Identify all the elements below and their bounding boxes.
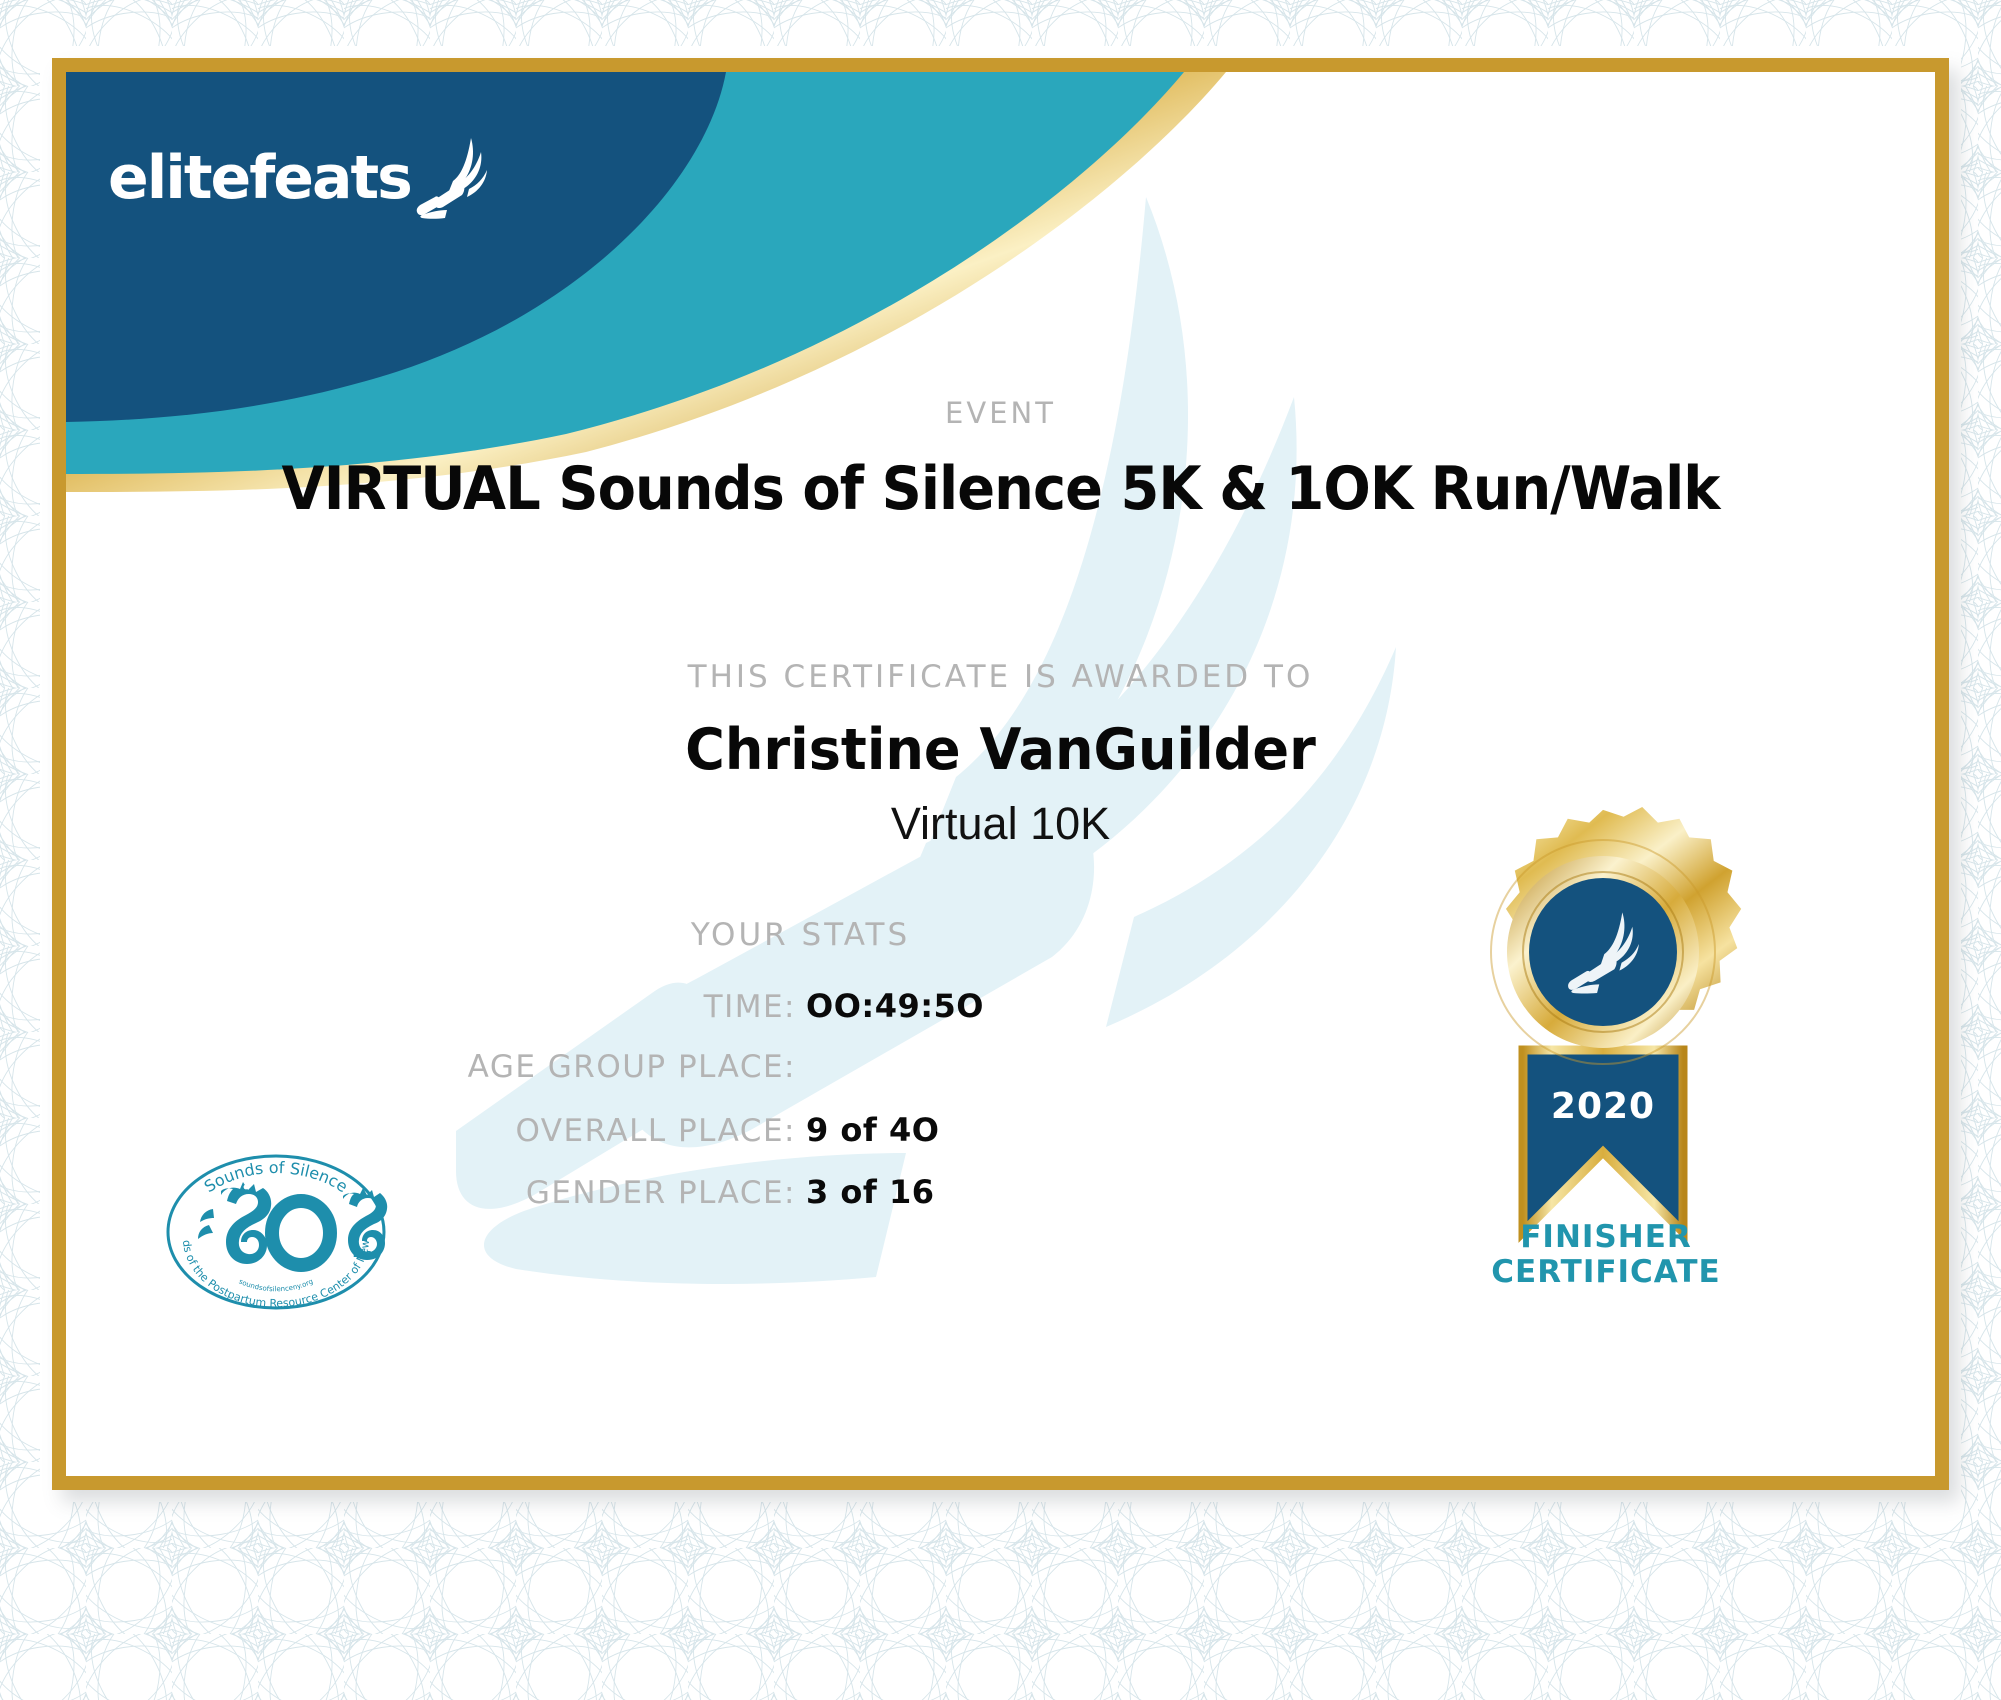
stat-value-time: OO:49:5O xyxy=(806,987,984,1025)
sounds-of-silence-logo: LMR Sounds of Silence Friends of the Pos… xyxy=(151,1147,401,1317)
stat-label-time: TIME: xyxy=(66,989,806,1025)
certificate-frame: elitefeats xyxy=(52,58,1949,1490)
stat-row-age-group-place: AGE GROUP PLACE: xyxy=(66,1049,946,1093)
stat-row-time: TIME: OO:49:5O xyxy=(66,987,946,1031)
finisher-caption-line2: CERTIFICATE xyxy=(1411,1255,1801,1290)
winged-foot-icon xyxy=(409,134,495,224)
awarded-to-label: THIS CERTIFICATE IS AWARDED TO xyxy=(66,659,1935,695)
finisher-caption: FINISHER CERTIFICATE xyxy=(1411,1220,1801,1289)
recipient-name: Christine VanGuilder xyxy=(113,717,1889,783)
elitefeats-logo: elitefeats xyxy=(108,134,495,208)
stat-label-overall-place: OVERALL PLACE: xyxy=(66,1113,806,1149)
stat-value-gender-place: 3 of 16 xyxy=(806,1173,946,1211)
event-title: VIRTUAL Sounds of Silence 5K & 1OK Run/W… xyxy=(131,454,1869,524)
finisher-caption-line1: FINISHER xyxy=(1411,1220,1801,1255)
sos-url-text: soundsofsilenceny.org xyxy=(238,1277,315,1293)
svg-text:soundsofsilenceny.org: soundsofsilenceny.org xyxy=(238,1277,315,1293)
certificate-body: elitefeats xyxy=(66,72,1935,1476)
brand-wordmark: elitefeats xyxy=(108,148,411,208)
finisher-medal-badge: 2020 xyxy=(1451,800,1756,1270)
medal-year: 2020 xyxy=(1551,1086,1655,1127)
event-label: EVENT xyxy=(66,396,1935,430)
stat-label-age-group-place: AGE GROUP PLACE: xyxy=(66,1049,806,1085)
certificate-content: EVENT VIRTUAL Sounds of Silence 5K & 1OK… xyxy=(66,72,1935,1476)
stat-value-overall-place: 9 of 4O xyxy=(806,1111,946,1149)
